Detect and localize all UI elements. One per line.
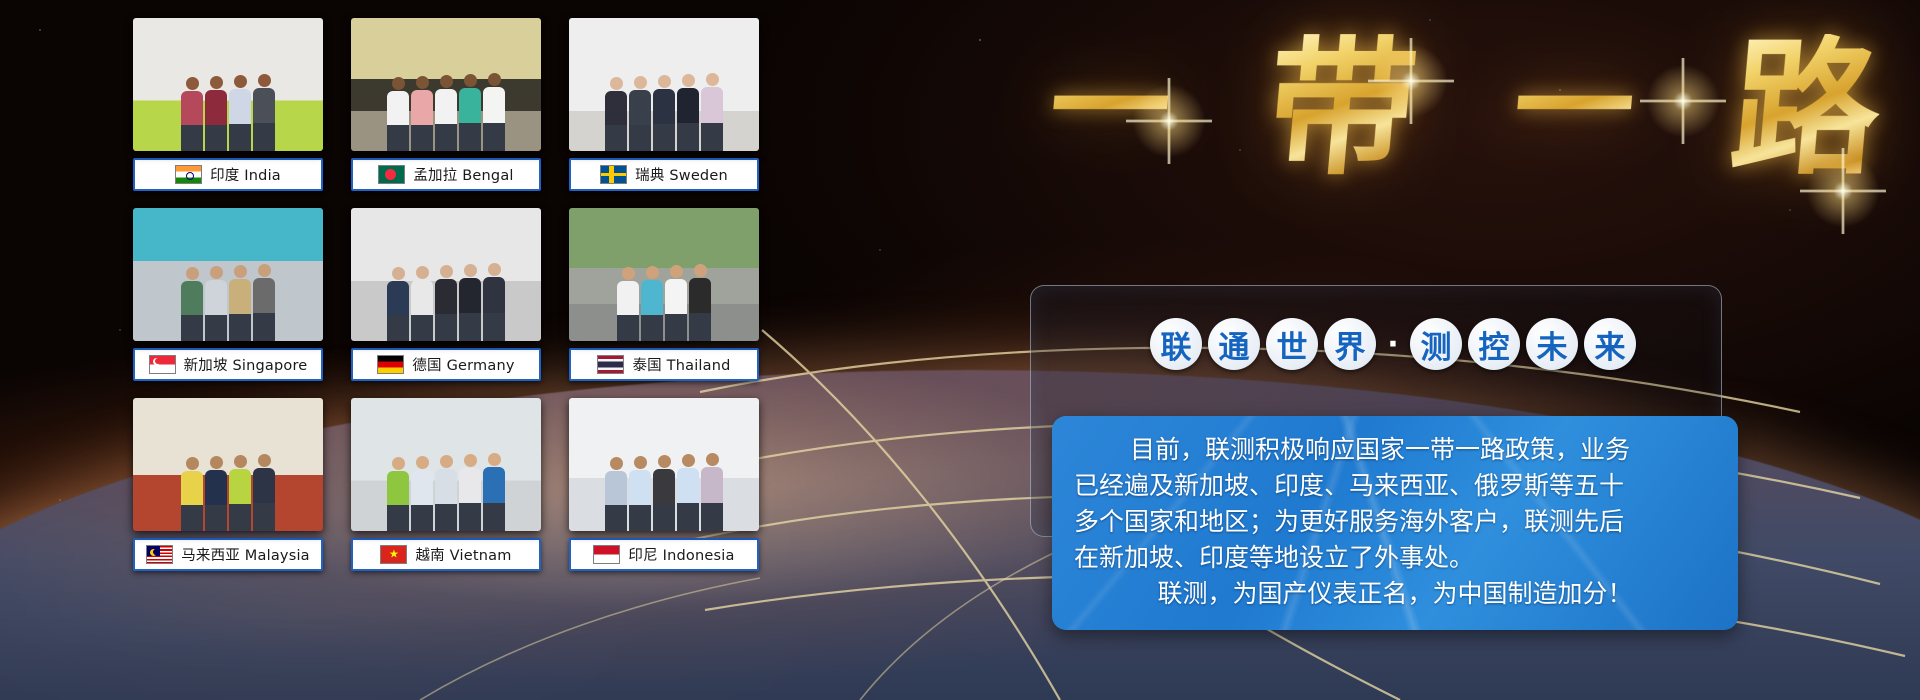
country-label: 马来西亚 Malaysia (133, 538, 323, 571)
about-line-1: 目前，联测积极响应国家一带一路政策，业务 (1074, 432, 1716, 468)
gallery-item[interactable]: 印度 India (133, 18, 323, 191)
gold-char-2: 带 (1262, 34, 1423, 182)
country-name: 马来西亚 Malaysia (181, 544, 310, 565)
country-label: 印度 India (133, 158, 323, 191)
country-label: 新加坡 Singapore (133, 348, 323, 381)
indonesia-flag-icon (593, 545, 620, 564)
vietnam-flag-icon: ★ (380, 545, 407, 564)
about-line-3: 多个国家和地区；为更好服务海外客户，联测先后 (1074, 504, 1716, 540)
about-text-box: 目前，联测积极响应国家一带一路政策，业务 已经遍及新加坡、印度、马来西亚、俄罗斯… (1052, 416, 1738, 630)
country-name: 泰国 Thailand (632, 354, 730, 375)
slogan-separator: · (1382, 318, 1404, 370)
gallery-item[interactable]: ★越南 Vietnam (351, 398, 541, 571)
country-photo[interactable] (351, 208, 541, 341)
country-photo[interactable] (133, 208, 323, 341)
country-label: 瑞典 Sweden (569, 158, 759, 191)
gallery-item[interactable]: 泰国 Thailand (569, 208, 759, 381)
country-photo[interactable] (569, 398, 759, 531)
gallery-item[interactable]: 孟加拉 Bengal (351, 18, 541, 191)
country-photo[interactable] (351, 398, 541, 531)
banner-stage: 一 带 一 路 印度 India孟加拉 Bengal瑞典 Sweden新加坡 S… (0, 0, 1920, 700)
gallery-item[interactable]: 瑞典 Sweden (569, 18, 759, 191)
country-photo[interactable] (351, 18, 541, 151)
malaysia-flag-icon (146, 545, 173, 564)
country-name: 瑞典 Sweden (635, 164, 728, 185)
slogan-char-badge: 世 (1266, 318, 1318, 370)
slogan-char-badge: 控 (1468, 318, 1520, 370)
germany-flag-icon (377, 355, 404, 374)
thailand-flag-icon (597, 355, 624, 374)
about-line-4: 在新加坡、印度等地设立了外事处。 (1074, 540, 1716, 576)
slogan-char-badge: 通 (1208, 318, 1260, 370)
country-photo[interactable] (569, 208, 759, 341)
slogan-char-badge: 联 (1150, 318, 1202, 370)
about-line-5: 联测，为国产仪表正名，为中国制造加分！ (1074, 576, 1716, 612)
slogan-char-badge: 来 (1584, 318, 1636, 370)
india-flag-icon (175, 165, 202, 184)
gallery-item[interactable]: 新加坡 Singapore (133, 208, 323, 381)
country-name: 新加坡 Singapore (184, 354, 308, 375)
gallery-item[interactable]: 马来西亚 Malaysia (133, 398, 323, 571)
gallery-item[interactable]: 德国 Germany (351, 208, 541, 381)
country-name: 德国 Germany (412, 354, 514, 375)
country-photo[interactable] (569, 18, 759, 151)
singapore-flag-icon (149, 355, 176, 374)
country-photo[interactable] (133, 18, 323, 151)
gallery-item[interactable]: 印尼 Indonesia (569, 398, 759, 571)
country-name: 印尼 Indonesia (628, 544, 734, 565)
country-label: ★越南 Vietnam (351, 538, 541, 571)
slogan-char-badge: 界 (1324, 318, 1376, 370)
country-label: 孟加拉 Bengal (351, 158, 541, 191)
slogan-char-badge: 未 (1526, 318, 1578, 370)
company-slogan: 联通世界·测控未来 (1150, 318, 1636, 370)
country-label: 德国 Germany (351, 348, 541, 381)
gold-calligraphy-title: 一 带 一 路 (1040, 8, 1890, 208)
country-label: 印尼 Indonesia (569, 538, 759, 571)
country-name: 印度 India (210, 164, 281, 185)
sweden-flag-icon (600, 165, 627, 184)
gold-char-3: 一 (1509, 48, 1639, 168)
country-name: 越南 Vietnam (415, 544, 511, 565)
gold-char-1: 一 (1045, 48, 1175, 168)
country-photo-grid: 印度 India孟加拉 Bengal瑞典 Sweden新加坡 Singapore… (133, 18, 759, 584)
slogan-char-badge: 测 (1410, 318, 1462, 370)
bangladesh-flag-icon (378, 165, 405, 184)
about-line-2: 已经遍及新加坡、印度、马来西亚、俄罗斯等五十 (1074, 468, 1716, 504)
country-label: 泰国 Thailand (569, 348, 759, 381)
country-name: 孟加拉 Bengal (413, 164, 513, 185)
country-photo[interactable] (133, 398, 323, 531)
gold-char-4: 路 (1726, 34, 1887, 182)
